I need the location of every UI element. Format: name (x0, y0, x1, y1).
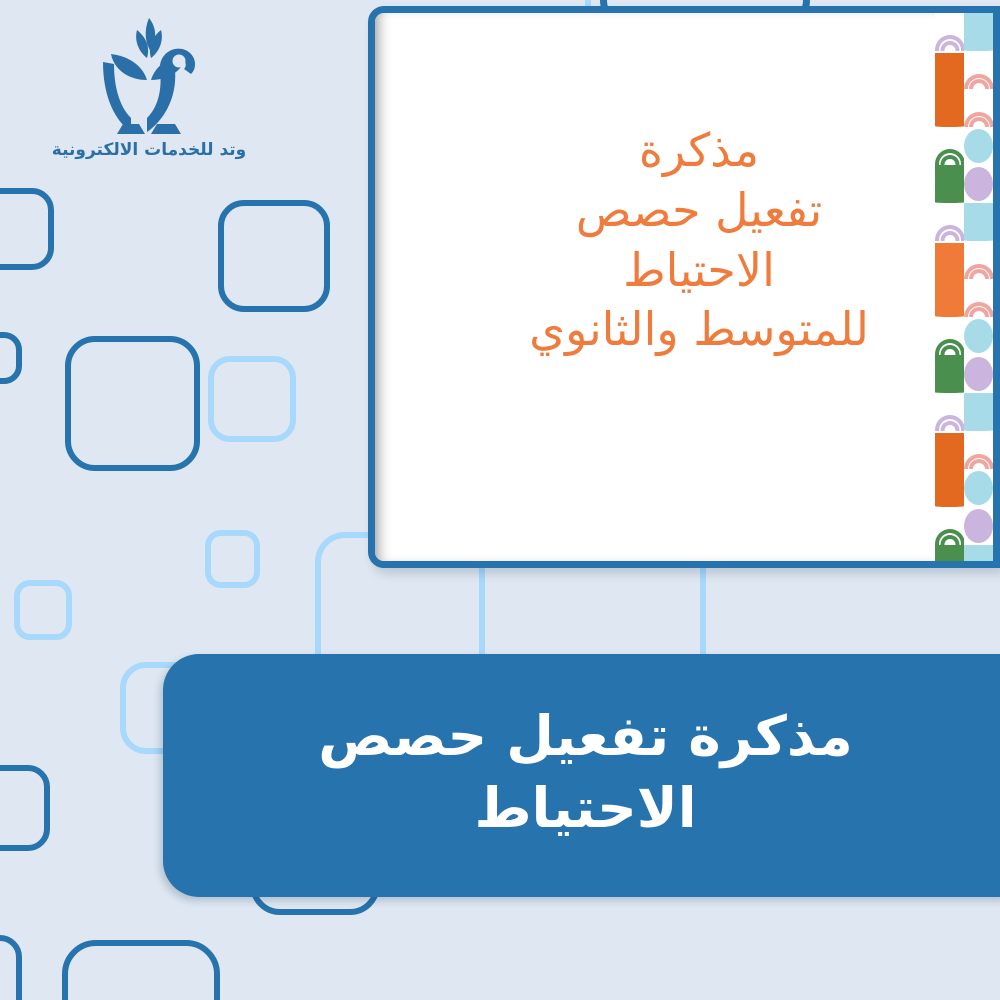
pattern-cell (964, 89, 993, 127)
pattern-cell (964, 203, 993, 241)
pattern-cell (935, 431, 964, 469)
pattern-column-right (964, 13, 993, 561)
decor-rounded-square (0, 332, 22, 384)
brand-logo: وتد للخدمات الالكترونية (34, 14, 264, 174)
pattern-cell (964, 355, 993, 393)
pattern-cell (935, 355, 964, 393)
decor-rounded-square (62, 940, 220, 1000)
pattern-cell (935, 13, 964, 51)
slide-canvas: وتد للخدمات الالكترونية مذكرة تفعيل حصص … (0, 0, 1000, 1000)
bottom-banner: مذكرة تفعيل حصص الاحتياط (163, 654, 1000, 897)
pattern-cell (964, 165, 993, 203)
brand-caption: وتد للخدمات الالكترونية (34, 140, 264, 160)
pattern-cell (935, 89, 964, 127)
banner-title-line-2: الاحتياط (318, 773, 852, 845)
decor-rounded-square (65, 336, 200, 471)
slide-title: مذكرة تفعيل حصص الاحتياط للمتوسط والثانو… (475, 121, 923, 360)
pattern-cell (935, 51, 964, 89)
pattern-cell (964, 51, 993, 89)
decor-rounded-square (14, 580, 72, 640)
slide-card: مذكرة تفعيل حصص الاحتياط للمتوسط والثانو… (368, 6, 1000, 568)
pattern-cell (964, 431, 993, 469)
decor-rounded-square (0, 188, 54, 270)
pattern-column-left (935, 13, 964, 561)
pattern-cell (964, 545, 993, 561)
pattern-cell (964, 507, 993, 545)
pattern-cell (964, 393, 993, 431)
banner-title-line-1: مذكرة تفعيل حصص (318, 701, 852, 773)
pattern-cell (935, 545, 964, 561)
pattern-cell (935, 165, 964, 203)
slide-title-line-3: الاحتياط (475, 241, 923, 301)
pattern-cell (964, 469, 993, 507)
pattern-cell (935, 241, 964, 279)
pattern-cell (935, 127, 964, 165)
slide-title-line-2: تفعيل حصص (475, 181, 923, 241)
pattern-cell (935, 203, 964, 241)
pattern-cell (964, 13, 993, 51)
pattern-cell (935, 507, 964, 545)
pattern-cell (935, 393, 964, 431)
decor-rounded-square (218, 200, 330, 312)
decor-rounded-square (0, 935, 22, 1000)
pattern-cell (935, 279, 964, 317)
pattern-cell (964, 279, 993, 317)
decor-rounded-square (205, 530, 260, 588)
decor-rounded-square (208, 356, 296, 442)
pattern-cell (964, 127, 993, 165)
banner-title: مذكرة تفعيل حصص الاحتياط (318, 701, 852, 850)
pattern-cell (964, 241, 993, 279)
decorative-pattern-strip (935, 13, 993, 561)
pattern-cell (964, 317, 993, 355)
slide-title-line-4: للمتوسط والثانوي (475, 300, 923, 360)
slide-card-inner: مذكرة تفعيل حصص الاحتياط للمتوسط والثانو… (375, 13, 993, 561)
decor-rounded-square (0, 765, 50, 851)
pattern-cell (935, 469, 964, 507)
wheat-person-logo-icon (87, 14, 212, 136)
slide-title-line-1: مذكرة (475, 121, 923, 181)
pattern-cell (935, 317, 964, 355)
